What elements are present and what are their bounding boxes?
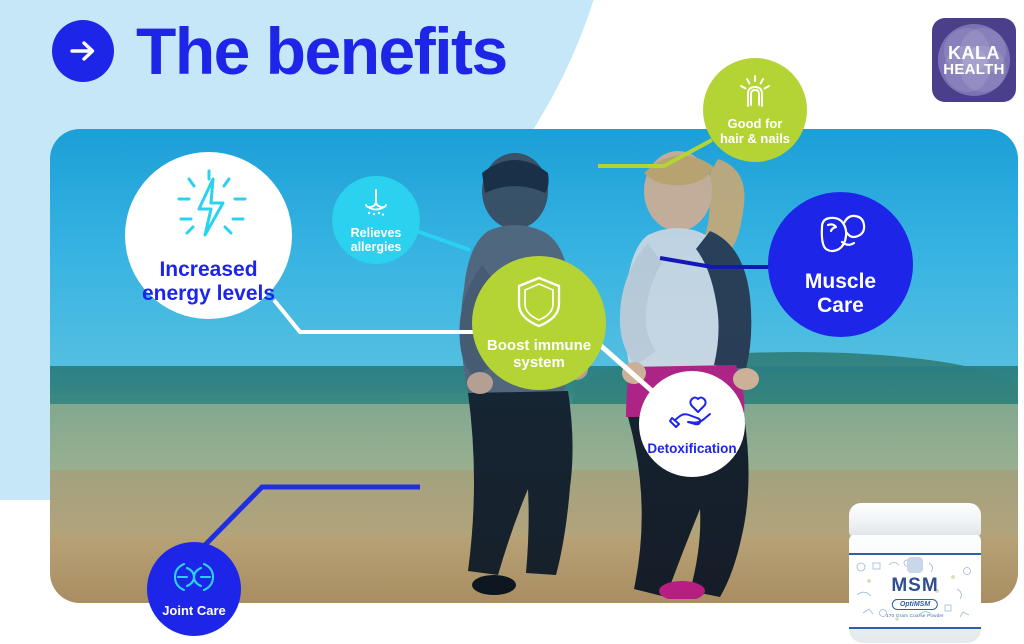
nose-icon xyxy=(359,187,393,222)
infographic-slide: The benefits KALA HEALTH xyxy=(0,0,1024,644)
kala-health-logo: KALA HEALTH xyxy=(932,18,1016,102)
badge-boost-immune-system[interactable]: Boost immunesystem xyxy=(472,256,606,390)
jar-body: MSM OptiMSM 170 Gram Coarse Powder xyxy=(849,535,981,643)
hand-heart-icon xyxy=(669,392,715,437)
jar-brand-name: OptiMSM xyxy=(892,599,938,610)
badge-label: MuscleCare xyxy=(805,270,876,317)
product-jar: MSM OptiMSM 170 Gram Coarse Powder xyxy=(845,503,985,643)
jar-product-name: MSM xyxy=(849,575,981,597)
badge-relieves-allergies[interactable]: Relievesallergies xyxy=(332,176,420,264)
badge-label: Increasedenergy levels xyxy=(142,258,275,305)
badge-label: Relievesallergies xyxy=(351,226,402,254)
jar-lid xyxy=(849,503,981,537)
badge-good-for-hair-nails[interactable]: Good forhair & nails xyxy=(703,58,807,162)
jar-subtitle: 170 Gram Coarse Powder xyxy=(849,613,981,618)
page-title: The benefits xyxy=(136,18,507,84)
badge-muscle-care[interactable]: MuscleCare xyxy=(768,192,913,337)
arrow-right-circle-icon xyxy=(52,20,114,82)
fingernail-icon xyxy=(736,74,774,113)
joint-bone-icon xyxy=(172,559,216,600)
lightning-bolt-icon xyxy=(167,165,251,254)
page-header: The benefits xyxy=(52,18,507,84)
shield-icon xyxy=(514,275,564,334)
jar-label: MSM OptiMSM 170 Gram Coarse Powder xyxy=(849,553,981,629)
jar-brand-mark xyxy=(907,557,923,573)
logo-line-1: KALA xyxy=(943,44,1005,62)
badge-increased-energy[interactable]: Increasedenergy levels xyxy=(125,152,292,319)
badge-label: Good forhair & nails xyxy=(720,117,790,146)
badge-label: Detoxification xyxy=(647,441,736,456)
badge-joint-care[interactable]: Joint Care xyxy=(147,542,241,636)
logo-text: KALA HEALTH xyxy=(943,44,1005,77)
badge-detoxification[interactable]: Detoxification xyxy=(639,371,745,477)
badge-label: Boost immunesystem xyxy=(487,338,591,372)
logo-line-2: HEALTH xyxy=(943,62,1005,77)
flexed-bicep-icon xyxy=(814,211,868,266)
badge-label: Joint Care xyxy=(162,604,226,619)
